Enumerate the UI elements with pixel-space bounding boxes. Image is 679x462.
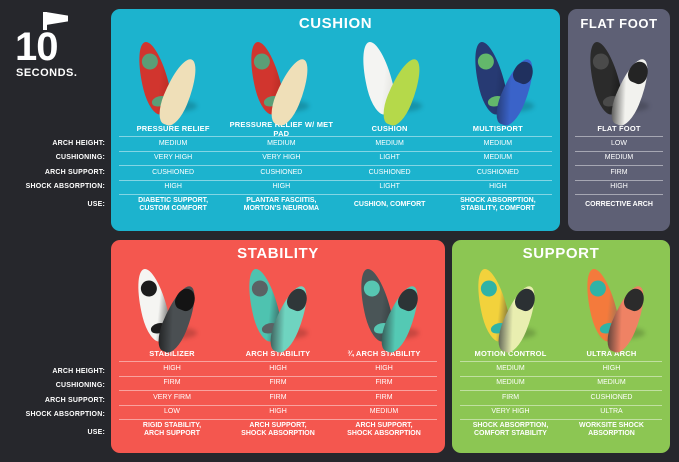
row-divider [119, 376, 437, 377]
cell-shock-absorption-1: HIGH [119, 181, 227, 195]
cell-shock-absorption-2: HIGH [227, 181, 335, 195]
spec-row-arch-height: LOW [575, 137, 663, 151]
cell-shock-absorption-3: LIGHT [336, 181, 444, 195]
cell-arch-support-2: FIRM [225, 391, 331, 405]
cell-use-1: SHOCK ABSORPTION, COMFORT STABILITY [460, 420, 561, 440]
insole-multisport [448, 35, 560, 123]
cell-shock-absorption-3: MEDIUM [331, 406, 437, 420]
cell-cushioning-2: VERY HIGH [227, 152, 335, 166]
spec-row-shock-absorption: HIGH [575, 181, 663, 195]
spec-row-use: DIABETIC SUPPORT, CUSTOM COMFORTPLANTAR … [119, 195, 552, 215]
row-divider [119, 136, 552, 137]
cell-arch-support-1: CUSHIONED [119, 166, 227, 180]
panel-stability: STABILITYSTABILIZERARCH STABILITY¾ ARCH … [111, 240, 445, 453]
cell-arch-height-3: HIGH [331, 362, 437, 376]
cell-arch-height-1: MEDIUM [119, 137, 227, 151]
cell-arch-height-1: HIGH [119, 362, 225, 376]
row-divider [119, 194, 552, 195]
cell-cushioning-2: FIRM [225, 377, 331, 391]
cell-arch-support-4: CUSHIONED [444, 166, 552, 180]
cell-shock-absorption-1: HIGH [575, 181, 663, 195]
cell-arch-height-2: HIGH [561, 362, 662, 376]
cell-arch-height-3: MEDIUM [336, 137, 444, 151]
spec-row-cushioning: MEDIUMMEDIUM [460, 377, 662, 391]
cell-use-1: DIABETIC SUPPORT, CUSTOM COMFORT [119, 195, 227, 215]
cell-cushioning-1: MEDIUM [575, 152, 663, 166]
insole-flat-foot [568, 35, 670, 123]
insole-heel-pad [362, 278, 382, 298]
row-divider [460, 361, 662, 362]
cell-shock-absorption-2: ULTRA [561, 406, 662, 420]
row-label-arch-support: ARCH SUPPORT: [5, 393, 105, 408]
comparison-chart: 10 SECONDS. ARCH HEIGHT:CUSHIONING:ARCH … [0, 0, 679, 462]
insole-heel-pad [588, 278, 608, 298]
cell-arch-height-1: MEDIUM [460, 362, 561, 376]
panel-title-cushion: CUSHION [111, 9, 560, 35]
brand-logo: 10 SECONDS. [13, 12, 93, 82]
panel-support: SUPPORTMOTION CONTROLULTRA ARCHMEDIUMHIG… [452, 240, 670, 453]
row-divider [119, 165, 552, 166]
spec-row-arch-support: FIRMCUSHIONED [460, 391, 662, 405]
insole-heel-pad [252, 51, 272, 71]
row-divider [460, 390, 662, 391]
cell-cushioning-2: MEDIUM [561, 377, 662, 391]
product-name-1: PRESSURE RELIEF [119, 123, 227, 136]
cell-use-1: RIGID STABILITY, ARCH SUPPORT [119, 420, 225, 440]
cell-use-3: ARCH SUPPORT, SHOCK ABSORPTION [331, 420, 437, 440]
panel-title-stability: STABILITY [111, 240, 445, 264]
spec-row-shock-absorption: LOWHIGHMEDIUM [119, 406, 437, 420]
row-label-shock-absorption: SHOCK ABSORPTION: [5, 408, 105, 423]
panel-flat-foot: FLAT FOOTFLAT FOOTLOWMEDIUMFIRMHIGHCORRE… [568, 9, 670, 231]
spec-row-arch-height: MEDIUMMEDIUMMEDIUMMEDIUM [119, 137, 552, 151]
cell-cushioning-3: FIRM [331, 377, 437, 391]
spec-table-cushion: PRESSURE RELIEFPRESSURE RELIEF W/ MET PA… [111, 123, 560, 215]
cell-arch-support-3: FIRM [331, 391, 437, 405]
insole-heel-pad [140, 51, 160, 71]
insole-front-heel [622, 286, 647, 313]
cell-arch-support-2: CUSHIONED [227, 166, 335, 180]
cell-arch-height-2: MEDIUM [227, 137, 335, 151]
cell-cushioning-1: FIRM [119, 377, 225, 391]
spec-row-arch-height: MEDIUMHIGH [460, 362, 662, 376]
insole-stabilizer [111, 264, 222, 348]
cell-use-2: ARCH SUPPORT, SHOCK ABSORPTION [225, 420, 331, 440]
panel-title-flat_foot: FLAT FOOT [568, 9, 670, 35]
insole-heel-pad [592, 51, 612, 71]
spec-row-cushioning: VERY HIGHVERY HIGHLIGHTMEDIUM [119, 152, 552, 166]
row-divider [575, 180, 663, 181]
flag-icon [46, 12, 68, 25]
insole-pressure-relief-met-pad [223, 35, 335, 123]
brand-word: SECONDS. [16, 67, 77, 79]
row-divider [575, 165, 663, 166]
insole-pressure-relief [111, 35, 223, 123]
cell-shock-absorption-1: VERY HIGH [460, 406, 561, 420]
cell-arch-support-3: CUSHIONED [336, 166, 444, 180]
product-images [568, 35, 670, 123]
cell-arch-support-1: FIRM [575, 166, 663, 180]
cell-use-2: PLANTAR FASCIITIS, MORTON'S NEUROMA [227, 195, 335, 215]
product-images [452, 264, 670, 348]
row-label-cushioning: CUSHIONING: [5, 151, 105, 166]
cell-use-3: CUSHION, COMFORT [336, 195, 444, 215]
insole-ultra-arch [561, 264, 670, 348]
cell-arch-support-1: FIRM [460, 391, 561, 405]
cell-cushioning-1: MEDIUM [460, 377, 561, 391]
insole-three-quarter-arch-stability [334, 264, 445, 348]
insole-motion-control [452, 264, 561, 348]
insole-cushion [336, 35, 448, 123]
spec-row-shock-absorption: VERY HIGHULTRA [460, 406, 662, 420]
cell-use-1: CORRECTIVE ARCH [575, 195, 663, 215]
row-divider [119, 405, 437, 406]
cell-shock-absorption-1: LOW [119, 406, 225, 420]
row-label-cushioning: CUSHIONING: [5, 379, 105, 394]
brand-number: 10 [15, 27, 58, 67]
spec-row-arch-support: CUSHIONEDCUSHIONEDCUSHIONEDCUSHIONED [119, 166, 552, 180]
spec-table-flat_foot: FLAT FOOTLOWMEDIUMFIRMHIGHCORRECTIVE ARC… [568, 123, 670, 215]
cell-arch-height-1: LOW [575, 137, 663, 151]
product-images [111, 35, 560, 123]
insole-arch-stability [222, 264, 333, 348]
cell-use-4: SHOCK ABSORPTION, STABILITY, COMFORT [444, 195, 552, 215]
spec-row-arch-height: HIGHHIGHHIGH [119, 362, 437, 376]
row-divider [575, 194, 663, 195]
row-label-arch-height: ARCH HEIGHT: [5, 364, 105, 379]
row-divider [460, 376, 662, 377]
cell-cushioning-4: MEDIUM [444, 152, 552, 166]
insole-heel-pad [251, 278, 271, 298]
row-label-arch-height: ARCH HEIGHT: [5, 136, 105, 151]
cell-arch-height-2: HIGH [225, 362, 331, 376]
row-divider [119, 419, 437, 420]
cell-use-2: WORKSITE SHOCK ABSORPTION [561, 420, 662, 440]
row-divider [575, 136, 663, 137]
row-label-use: USE: [5, 422, 105, 443]
spec-row-arch-support: VERY FIRMFIRMFIRM [119, 391, 437, 405]
spec-row-cushioning: MEDIUM [575, 152, 663, 166]
row-divider [119, 151, 552, 152]
spec-header-row: PRESSURE RELIEFPRESSURE RELIEF W/ MET PA… [119, 123, 552, 136]
product-name-4: MULTISPORT [444, 123, 552, 136]
panel-title-support: SUPPORT [452, 240, 670, 264]
insole-front-heel [284, 286, 309, 313]
spec-row-use: SHOCK ABSORPTION, COMFORT STABILITYWORKS… [460, 420, 662, 440]
row-divider [119, 180, 552, 181]
spec-row-arch-support: FIRM [575, 166, 663, 180]
insole-heel-pad [479, 278, 499, 298]
spec-row-shock-absorption: HIGHHIGHLIGHTHIGH [119, 181, 552, 195]
row-label-use: USE: [5, 194, 105, 215]
insole-heel-pad [139, 278, 159, 298]
spec-row-cushioning: FIRMFIRMFIRM [119, 377, 437, 391]
row-divider [119, 390, 437, 391]
row-divider [460, 419, 662, 420]
row-label-arch-support: ARCH SUPPORT: [5, 165, 105, 180]
spec-header-row: MOTION CONTROLULTRA ARCH [460, 348, 662, 361]
row-label-shock-absorption: SHOCK ABSORPTION: [5, 180, 105, 195]
insole-front-heel [625, 59, 650, 86]
cell-shock-absorption-4: HIGH [444, 181, 552, 195]
spec-row-use: CORRECTIVE ARCH [575, 195, 663, 215]
insole-front-heel [173, 286, 198, 313]
insole-front-heel [510, 59, 535, 86]
row-divider [460, 405, 662, 406]
row-labels-bottom: ARCH HEIGHT:CUSHIONING:ARCH SUPPORT:SHOC… [5, 364, 105, 443]
cell-cushioning-3: LIGHT [336, 152, 444, 166]
panel-cushion: CUSHIONPRESSURE RELIEFPRESSURE RELIEF W/… [111, 9, 560, 231]
cell-shock-absorption-2: HIGH [225, 406, 331, 420]
row-divider [119, 361, 437, 362]
product-images [111, 264, 445, 348]
cell-cushioning-1: VERY HIGH [119, 152, 227, 166]
insole-front-heel [513, 286, 538, 313]
spec-row-use: RIGID STABILITY, ARCH SUPPORTARCH SUPPOR… [119, 420, 437, 440]
insole-heel-pad [476, 51, 496, 71]
row-labels-top: ARCH HEIGHT:CUSHIONING:ARCH SUPPORT:SHOC… [5, 136, 105, 215]
cell-arch-height-4: MEDIUM [444, 137, 552, 151]
cell-arch-support-1: VERY FIRM [119, 391, 225, 405]
insole-front-heel [396, 286, 421, 313]
row-divider [575, 151, 663, 152]
spec-table-stability: STABILIZERARCH STABILITY¾ ARCH STABILITY… [111, 348, 445, 440]
cell-arch-support-2: CUSHIONED [561, 391, 662, 405]
spec-table-support: MOTION CONTROLULTRA ARCHMEDIUMHIGHMEDIUM… [452, 348, 670, 440]
